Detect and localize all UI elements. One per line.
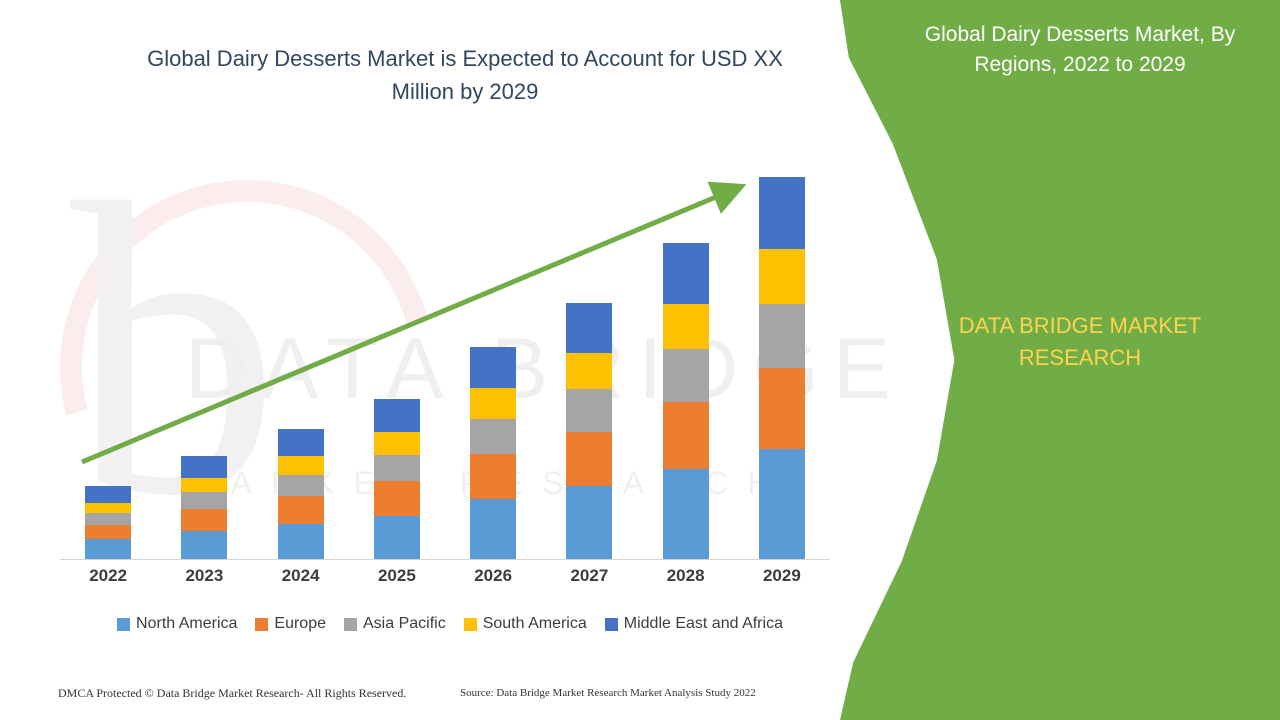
bar-column (663, 243, 709, 559)
bar-segment (470, 347, 516, 388)
stacked-bar-chart (60, 150, 830, 560)
bar-segment (470, 454, 516, 499)
bar-segment (181, 492, 227, 509)
bar-segment (278, 429, 324, 456)
chart-legend: North AmericaEuropeAsia PacificSouth Ame… (55, 615, 845, 633)
legend-swatch (344, 618, 357, 631)
bar-segment (85, 486, 131, 503)
bar-segment (278, 496, 324, 523)
bar-segment (374, 399, 420, 432)
bar-column (566, 303, 612, 559)
bar-segment (85, 525, 131, 540)
legend-label: Middle East and Africa (624, 615, 783, 633)
bar-segment (566, 486, 612, 559)
bar-segment (566, 303, 612, 353)
bar-segment (663, 243, 709, 304)
x-axis-line (60, 559, 830, 560)
legend-label: Europe (274, 615, 326, 633)
bar-column (181, 456, 227, 559)
x-axis-tick-label: 2024 (256, 566, 346, 586)
bar-segment (374, 455, 420, 482)
bar-segment (470, 499, 516, 559)
legend-label: Asia Pacific (363, 615, 446, 633)
x-axis-tick-label: 2029 (737, 566, 827, 586)
panel-title: Global Dairy Desserts Market, By Regions… (900, 20, 1260, 80)
footer-copyright: DMCA Protected © Data Bridge Market Rese… (58, 686, 406, 701)
x-axis-tick-label: 2027 (544, 566, 634, 586)
x-axis-tick-label: 2022 (63, 566, 153, 586)
x-axis-tick-label: 2025 (352, 566, 442, 586)
bar-segment (181, 509, 227, 531)
legend-swatch (117, 618, 130, 631)
x-axis-tick-label: 2026 (448, 566, 538, 586)
bar-segment (181, 478, 227, 493)
legend-item: Europe (255, 615, 326, 633)
legend-label: South America (483, 615, 587, 633)
bar-segment (663, 304, 709, 349)
x-axis-tick-label: 2023 (159, 566, 249, 586)
legend-swatch (605, 618, 618, 631)
bar-segment (374, 432, 420, 455)
x-axis-tick-label: 2028 (641, 566, 731, 586)
bar-segment (181, 531, 227, 559)
legend-item: Middle East and Africa (605, 615, 783, 633)
bar-segment (759, 304, 805, 368)
bar-segment (759, 249, 805, 304)
bar-segment (374, 516, 420, 559)
bar-column (470, 347, 516, 559)
bar-segment (663, 469, 709, 559)
bar-segment (566, 432, 612, 486)
bar-column (374, 399, 420, 559)
bar-segment (278, 456, 324, 475)
bar-segment (85, 539, 131, 559)
bar-segment (181, 456, 227, 478)
bar-segment (663, 349, 709, 402)
bar-segment (759, 449, 805, 559)
bar-segment (759, 368, 805, 450)
bar-segment (85, 513, 131, 525)
bar-segment (85, 503, 131, 513)
footer-source: Source: Data Bridge Market Research Mark… (460, 687, 756, 699)
legend-item: South America (464, 615, 587, 633)
legend-label: North America (136, 615, 237, 633)
bar-segment (566, 353, 612, 389)
chart-title: Global Dairy Desserts Market is Expected… (120, 42, 810, 108)
bar-column (278, 429, 324, 559)
legend-item: North America (117, 615, 237, 633)
bar-segment (470, 388, 516, 418)
legend-swatch (464, 618, 477, 631)
bar-segment (374, 481, 420, 515)
right-info-panel: Global Dairy Desserts Market, By Regions… (840, 0, 1280, 720)
bar-column (759, 177, 805, 559)
legend-swatch (255, 618, 268, 631)
bar-segment (566, 389, 612, 432)
legend-item: Asia Pacific (344, 615, 446, 633)
bar-column (85, 486, 131, 559)
bar-segment (278, 475, 324, 497)
bar-segment (470, 419, 516, 454)
panel-brand-text: DATA BRIDGE MARKET RESEARCH (900, 310, 1260, 374)
bar-segment (759, 177, 805, 249)
bar-segment (663, 402, 709, 469)
bar-segment (278, 524, 324, 559)
slide-canvas: b DATA BRIDGE MARKET RESEARCH Global Dai… (0, 0, 1280, 720)
